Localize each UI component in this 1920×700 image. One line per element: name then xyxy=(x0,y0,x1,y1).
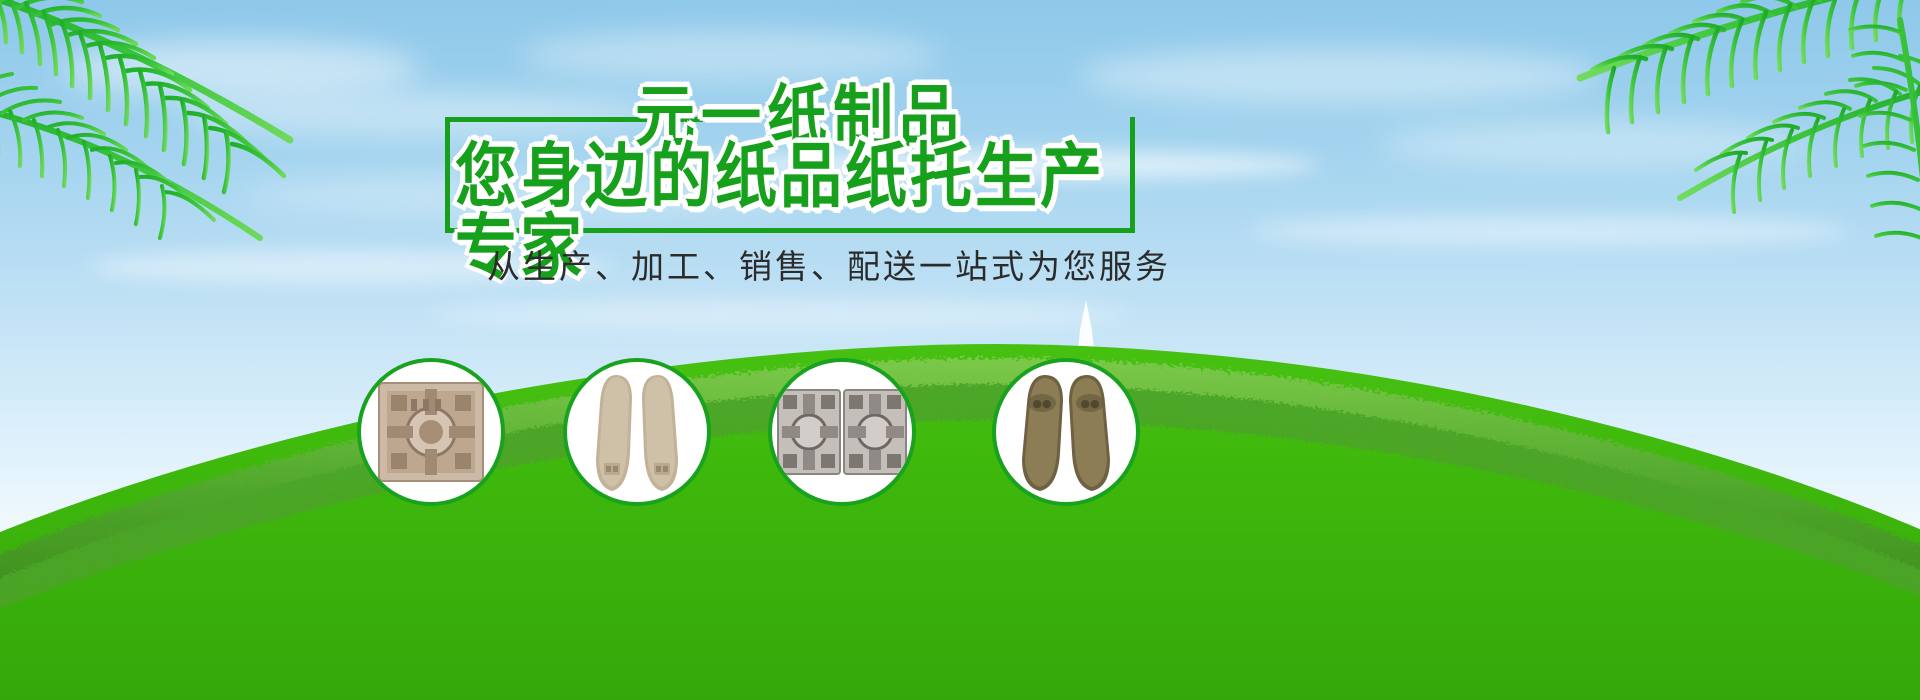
product-circle-2[interactable] xyxy=(563,358,711,506)
product-circle-3[interactable] xyxy=(768,358,916,506)
paper-pulp-shoe-insoles-light-icon xyxy=(582,367,692,497)
molded-pulp-tray-square-icon xyxy=(371,377,491,487)
green-hill-shape xyxy=(0,300,1920,700)
paper-pulp-shoe-insoles-dark-icon: ●● ●● xyxy=(1009,369,1123,495)
frame-line-left xyxy=(445,117,450,233)
svg-text:●●: ●● xyxy=(1032,397,1051,410)
molded-pulp-packaging-pair-icon xyxy=(776,386,908,478)
svg-text:●●: ●● xyxy=(1080,397,1099,410)
product-circle-1[interactable] xyxy=(357,358,505,506)
promo-banner: 元一纸制品 您身边的纸品纸托生产专家 从生产、加工、销售、配送一站式为您服务 xyxy=(0,0,1920,700)
product-circle-4[interactable]: ●● ●● xyxy=(992,358,1140,506)
banner-subtitle: 从生产、加工、销售、配送一站式为您服务 xyxy=(487,240,1107,288)
headline-block: 元一纸制品 您身边的纸品纸托生产专家 xyxy=(445,92,1135,232)
